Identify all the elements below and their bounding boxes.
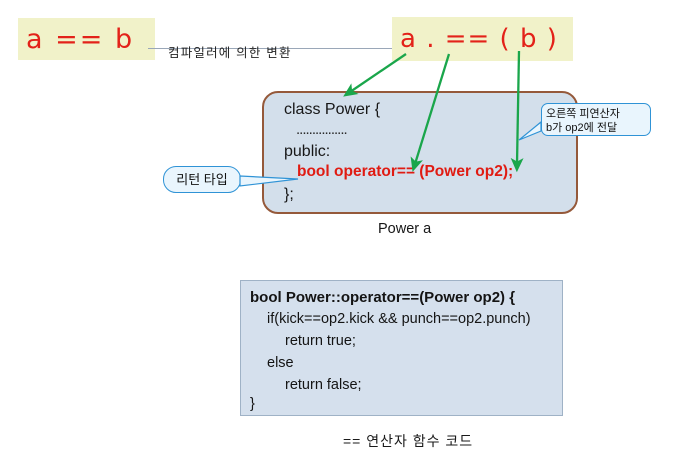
operator-function-code-box: bool Power::operator==(Power op2) { if(k… bbox=[240, 280, 563, 416]
expression-before-box: a == b bbox=[18, 18, 155, 60]
code-return-true-line: return true; bbox=[285, 333, 356, 349]
transform-caption: 컴파일러에 의한 변환 bbox=[168, 42, 292, 61]
code-return-false-line: return false; bbox=[285, 377, 362, 393]
code-else-line: else bbox=[267, 355, 294, 371]
class-closing-line: }; bbox=[284, 186, 294, 204]
code-closing-brace-line: } bbox=[250, 396, 255, 412]
code-caption: == 연산자 함수 코드 bbox=[343, 431, 473, 451]
code-if-line: if(kick==op2.kick && punch==op2.punch) bbox=[267, 311, 531, 327]
callout-return-type: 리턴 타입 bbox=[163, 166, 241, 193]
code-signature-line: bool Power::operator==(Power op2) { bbox=[250, 289, 515, 306]
operator-declaration-line: bool operator== (Power op2); bbox=[297, 163, 513, 181]
class-public-line: public: bbox=[284, 143, 330, 161]
expression-after-text: a . == ( b ) bbox=[400, 24, 558, 54]
callout-right-operand: 오른쪽 피연산자 b가 op2에 전달 bbox=[541, 103, 651, 136]
class-ellipsis-line: ................ bbox=[296, 121, 347, 138]
expression-after-box: a . == ( b ) bbox=[392, 17, 573, 61]
expression-before-text: a == b bbox=[26, 24, 134, 55]
class-declaration-line: class Power { bbox=[284, 101, 380, 119]
instance-caption: Power a bbox=[378, 221, 431, 237]
class-power-box: class Power { ................ public: b… bbox=[262, 91, 578, 214]
